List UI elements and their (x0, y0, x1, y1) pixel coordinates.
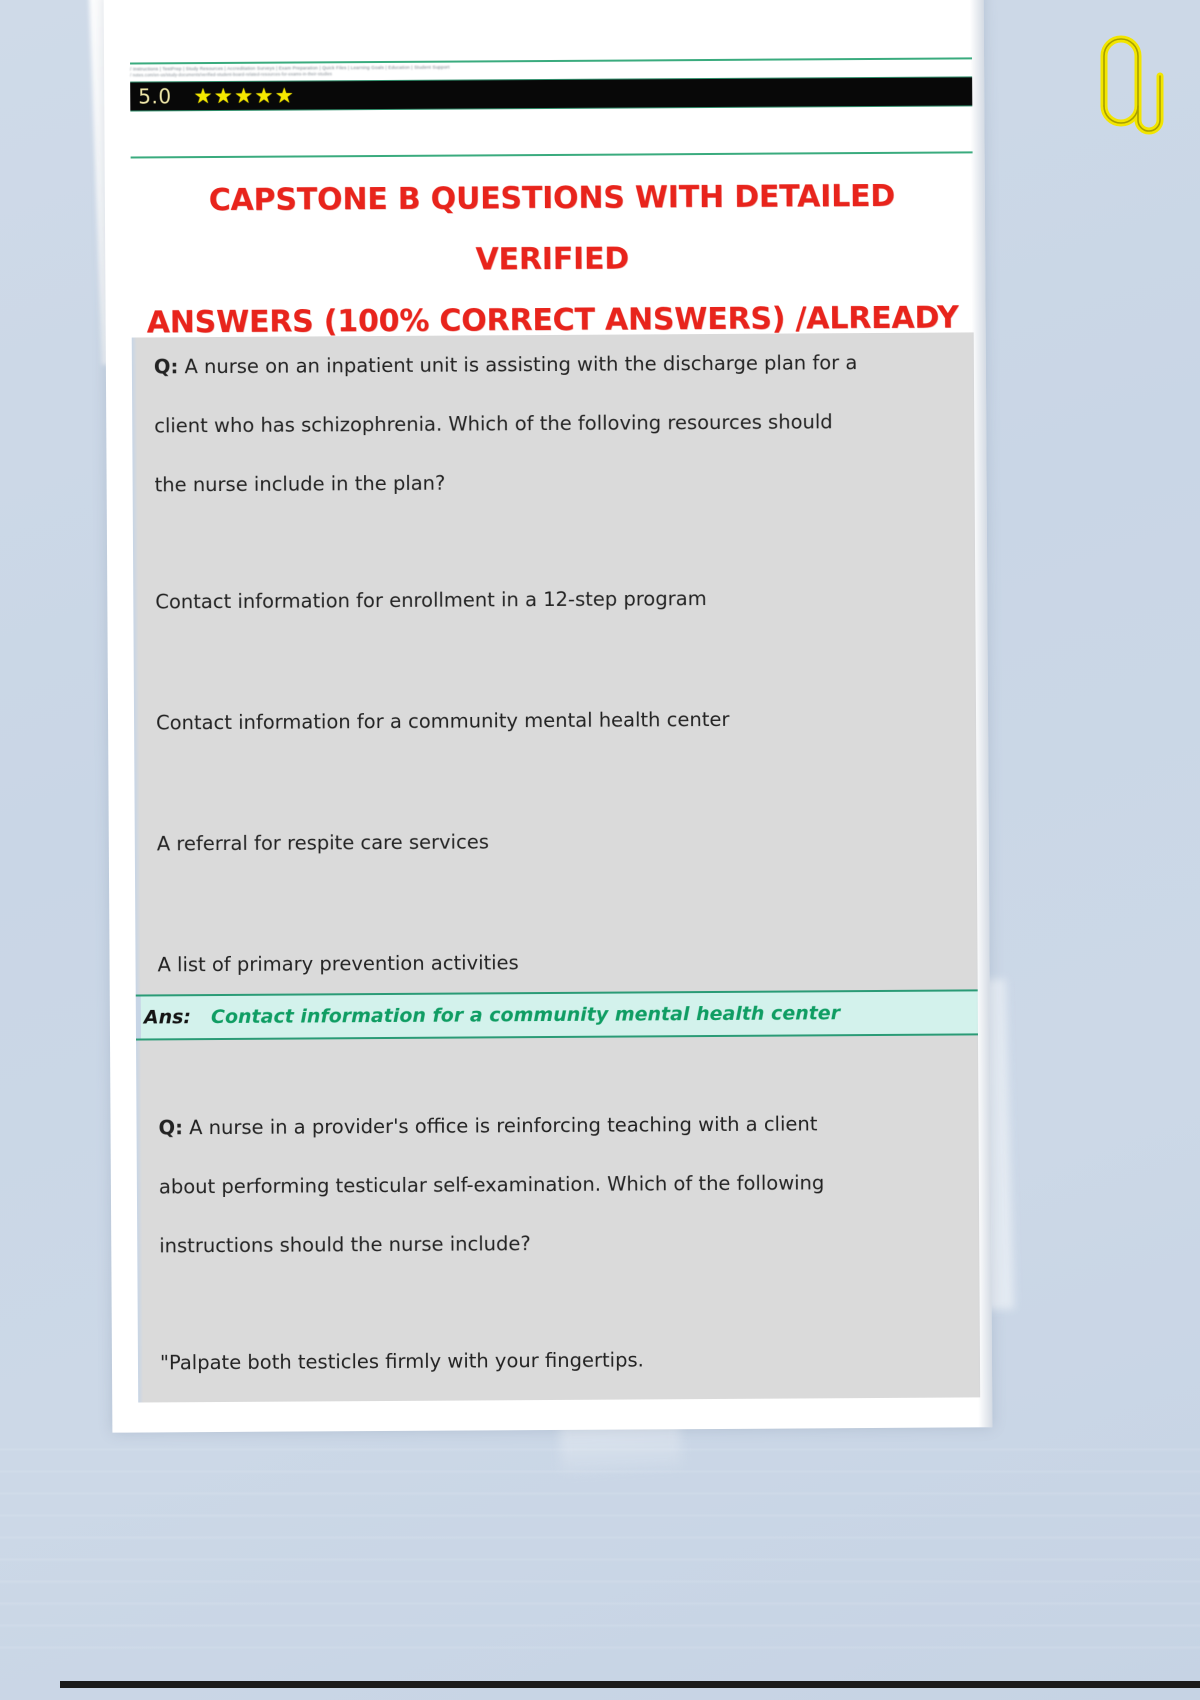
rating-bar: 5.0 ★★★★★ (130, 76, 972, 111)
question-stem-line: Q: A nurse on an inpatient unit is assis… (154, 333, 952, 397)
document-viewer: Examination Book / Instructions | TestPr… (0, 0, 1200, 1700)
question-prefix: Q: (154, 355, 179, 378)
bottom-bar (60, 1681, 1200, 1688)
answer-label: Ans: (144, 1006, 191, 1028)
question-stem-line: about performing testicular self-examina… (159, 1153, 957, 1217)
option-item[interactable]: "Palpate both testicles firmly with your… (160, 1329, 958, 1393)
page-title-line-1: CAPSTONE B QUESTIONS WITH DETAILED VERIF… (131, 165, 974, 292)
breadcrumb[interactable]: / Instructions | TestPrep | Study Resour… (130, 57, 972, 78)
spacer (156, 748, 954, 815)
title-divider (131, 151, 973, 158)
question-block: Q: A nurse in a provider's office is rei… (136, 1035, 980, 1392)
answer-text: Contact information for a community ment… (211, 1002, 840, 1028)
question-stem-text: A nurse on an inpatient unit is assistin… (184, 351, 857, 378)
paperclip-icon (1080, 28, 1172, 148)
question-stem-line: Q: A nurse in a provider's office is rei… (158, 1094, 956, 1158)
spacer (159, 1271, 957, 1334)
background-ruled-lines (0, 1430, 1200, 1660)
question-stem-line: instructions should the nurse include? (159, 1212, 957, 1276)
answer-row: Ans: Contact information for a community… (136, 989, 978, 1040)
star-rating-icons: ★★★★★ (193, 85, 295, 107)
spacer (157, 869, 955, 936)
spacer (158, 1036, 956, 1099)
question-stem-line: client who has schizophrenia. Which of t… (154, 392, 952, 456)
option-item[interactable]: Contact information for a community ment… (156, 689, 954, 753)
spacer (155, 510, 953, 573)
question-stem-text: A nurse in a provider's office is reinfo… (189, 1112, 817, 1139)
document-body: Q: A nurse on an inpatient unit is assis… (132, 332, 980, 1402)
option-item[interactable]: Contact information for enrollment in a … (155, 568, 953, 632)
question-block: Q: A nurse on an inpatient unit is assis… (132, 332, 978, 994)
document-page: / Instructions | TestPrep | Study Resour… (104, 0, 993, 1433)
spacer (156, 627, 954, 694)
option-item[interactable]: A referral for respite care services (157, 810, 955, 874)
option-item[interactable]: A list of primary prevention activities (157, 931, 955, 995)
question-stem-line: the nurse include in the plan? (154, 451, 952, 515)
question-prefix: Q: (158, 1116, 183, 1139)
rating-value: 5.0 (138, 86, 171, 106)
